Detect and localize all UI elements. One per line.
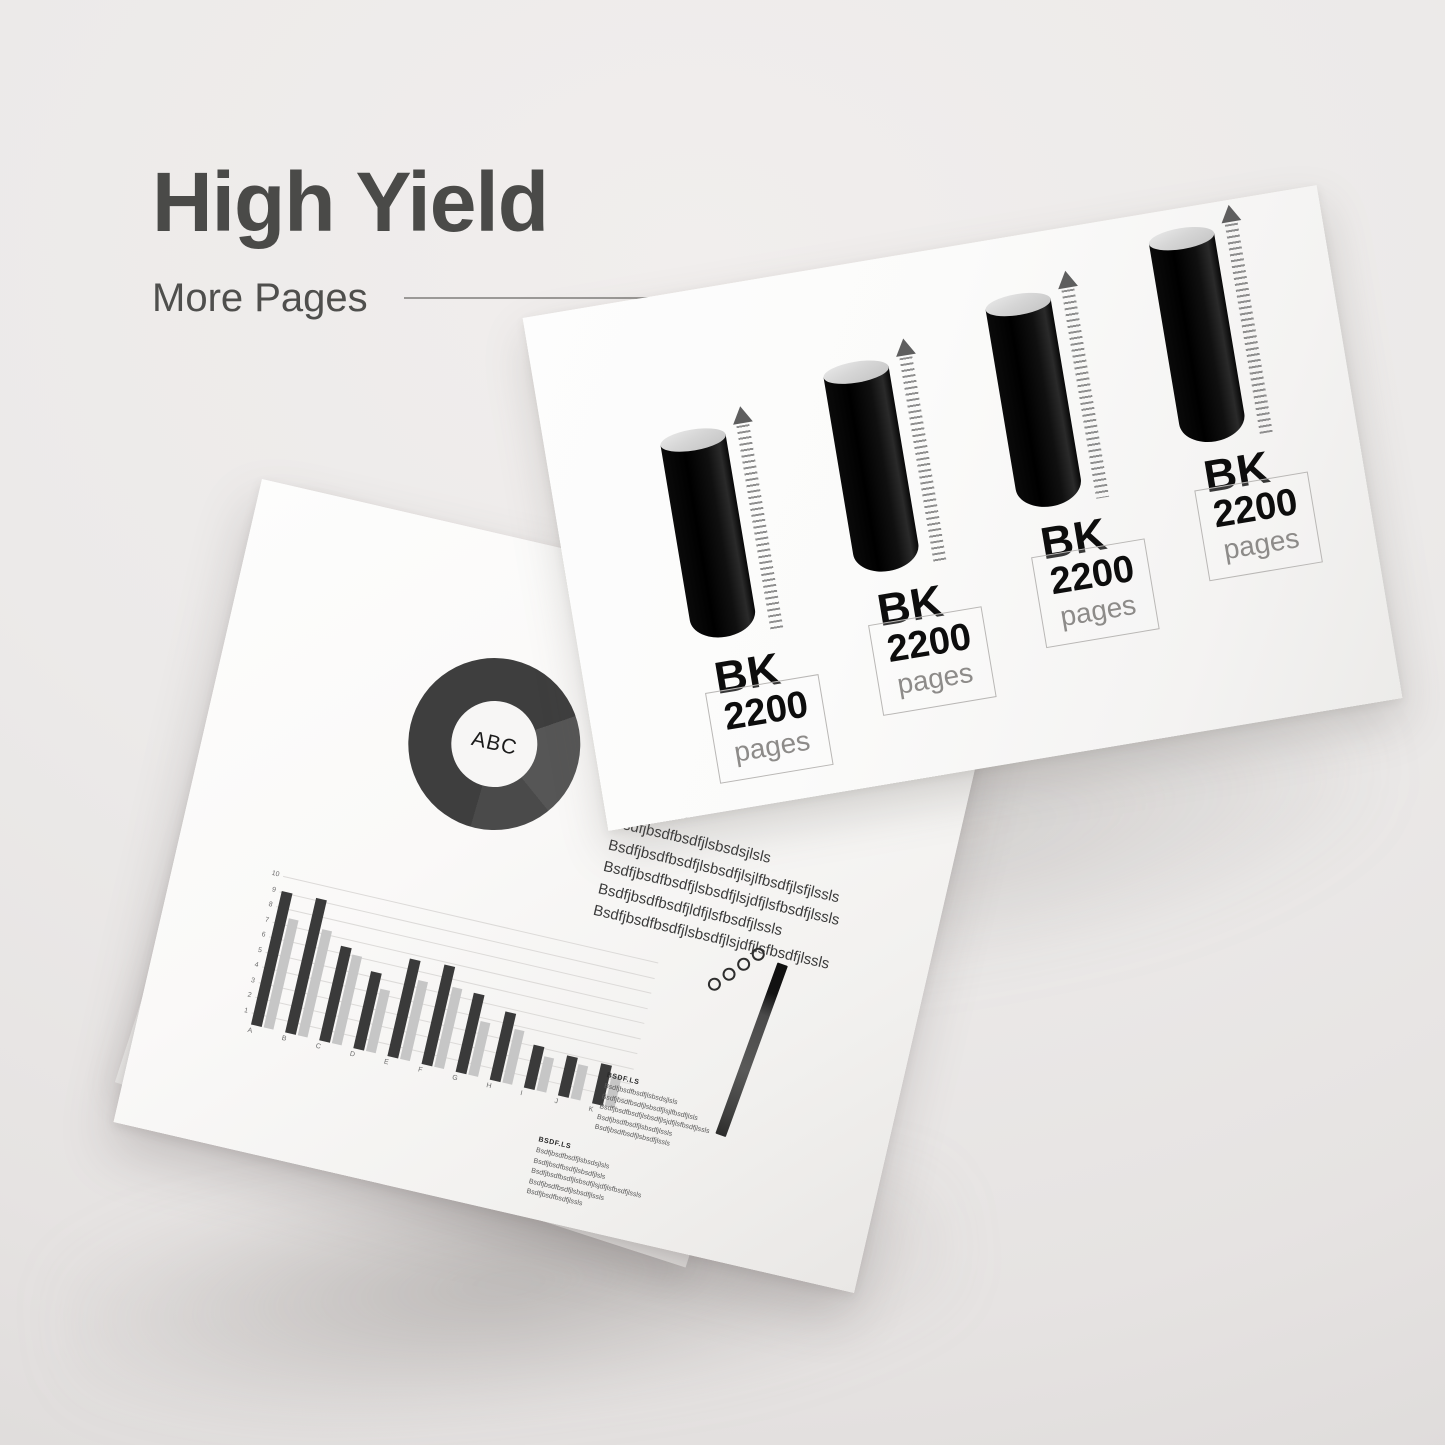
donut-center-label: ABC — [469, 727, 519, 761]
chart-x-tick-label: D — [349, 1051, 356, 1059]
chart-x-tick-label: G — [451, 1074, 458, 1082]
donut-center: ABC — [443, 692, 546, 795]
chart-y-tick-label: 2 — [247, 992, 252, 1000]
chart-x-tick-label: E — [383, 1058, 389, 1066]
chart-y-tick-label: 6 — [261, 931, 266, 939]
arrow-up-icon — [1218, 203, 1241, 223]
donut-chart: ABC — [391, 641, 597, 847]
report-text-block-footer-2: BSDF.LS Bsdfjbsdfbsdfjlsbsdsjlsls Bsdfjb… — [525, 1136, 649, 1222]
dot-icon — [750, 947, 766, 963]
chart-y-tick-label: 1 — [243, 1007, 248, 1015]
chart-x-tick-label: K — [588, 1106, 594, 1114]
chart-x-tick-label: F — [417, 1066, 423, 1074]
chart-x-tick-label: J — [554, 1098, 559, 1106]
dot-icon — [736, 956, 752, 972]
chart-x-tick-label: A — [247, 1027, 253, 1035]
chart-y-tick-label: 9 — [271, 886, 276, 894]
page-subtitle: More Pages — [152, 276, 368, 321]
report-text-block-footer-1: BSDF.LS Bsdfjbsdfbsdfjlsbsdsjlsls Bsdfjb… — [593, 1072, 717, 1158]
poster-canvas: High Yield More Pages ABC BSDFJLS Bsdfjb… — [0, 0, 1445, 1445]
chart-y-tick-label: 10 — [271, 870, 280, 879]
dot-icon — [707, 976, 723, 992]
chart-y-tick-label: 8 — [268, 901, 273, 909]
chart-y-tick-label: 3 — [250, 977, 255, 985]
chart-x-tick-label: I — [520, 1090, 523, 1097]
dot-icon — [721, 966, 737, 982]
chart-y-tick-label: 5 — [257, 946, 262, 954]
chart-x-tick-label: C — [315, 1043, 322, 1051]
chart-x-tick-label: B — [281, 1035, 287, 1043]
page-yield-box: 2200pages — [1194, 472, 1322, 581]
chart-y-tick-label: 4 — [254, 962, 259, 970]
page-title: High Yield — [152, 160, 784, 246]
chart-x-tick-label: H — [486, 1082, 493, 1090]
chart-y-tick-label: 7 — [264, 916, 269, 924]
donut-ring: ABC — [391, 641, 597, 847]
